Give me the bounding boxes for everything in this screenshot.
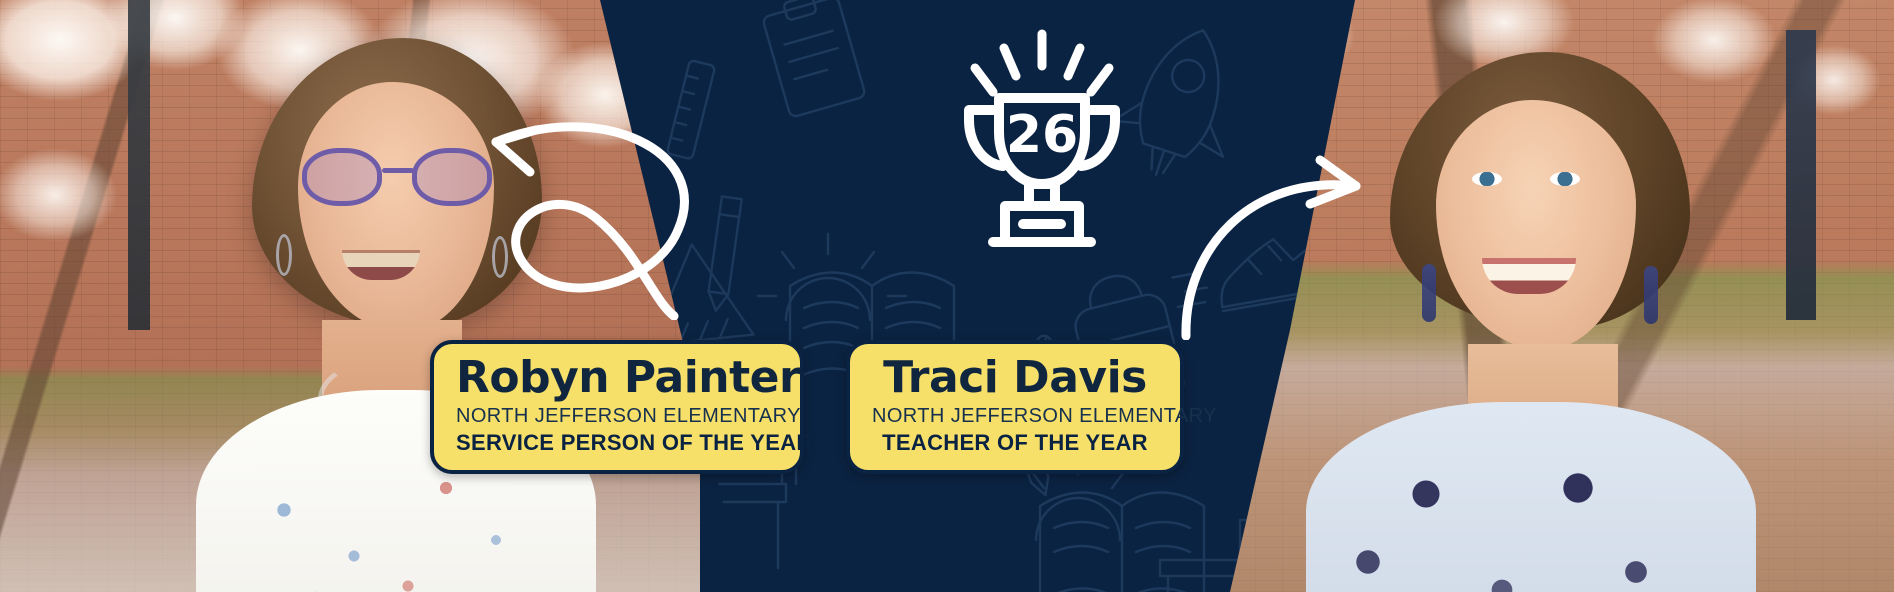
honoree-school-left: NORTH JEFFERSON ELEMENTARY (456, 405, 778, 428)
building-door-left (128, 0, 150, 330)
eye-right-b (1550, 172, 1580, 186)
building-door-right (1786, 30, 1816, 320)
honoree-award-right: TEACHER OF THE YEAR (872, 430, 1158, 456)
earring-right-b (1644, 266, 1658, 324)
trophy-icon: 26 (947, 28, 1137, 264)
honoree-name-right: Traci Davis (872, 356, 1158, 400)
honoree-award-left: SERVICE PERSON OF THE YEAR (456, 430, 778, 456)
award-banner: 26 Robyn Painter NORTH JEFFERSON ELEMENT… (0, 0, 1894, 592)
eye-right-a (1472, 172, 1502, 186)
sweater-right (1306, 402, 1756, 592)
earring-left-a (276, 234, 292, 276)
clipboard-icon (760, 0, 866, 118)
honoree-name-left: Robyn Painter (456, 356, 778, 400)
trophy-year-number: 26 (1006, 105, 1078, 165)
arrow-pointing-left-icon (478, 110, 758, 320)
honoree-badge-left[interactable]: Robyn Painter NORTH JEFFERSON ELEMENTARY… (430, 340, 804, 474)
honoree-badge-right[interactable]: Traci Davis NORTH JEFFERSON ELEMENTARY T… (846, 340, 1184, 474)
sun-icon (758, 234, 906, 320)
eyeglasses-icon (302, 148, 492, 206)
arrow-pointing-right-icon (1160, 140, 1450, 340)
honoree-school-right: NORTH JEFFERSON ELEMENTARY (872, 405, 1158, 428)
